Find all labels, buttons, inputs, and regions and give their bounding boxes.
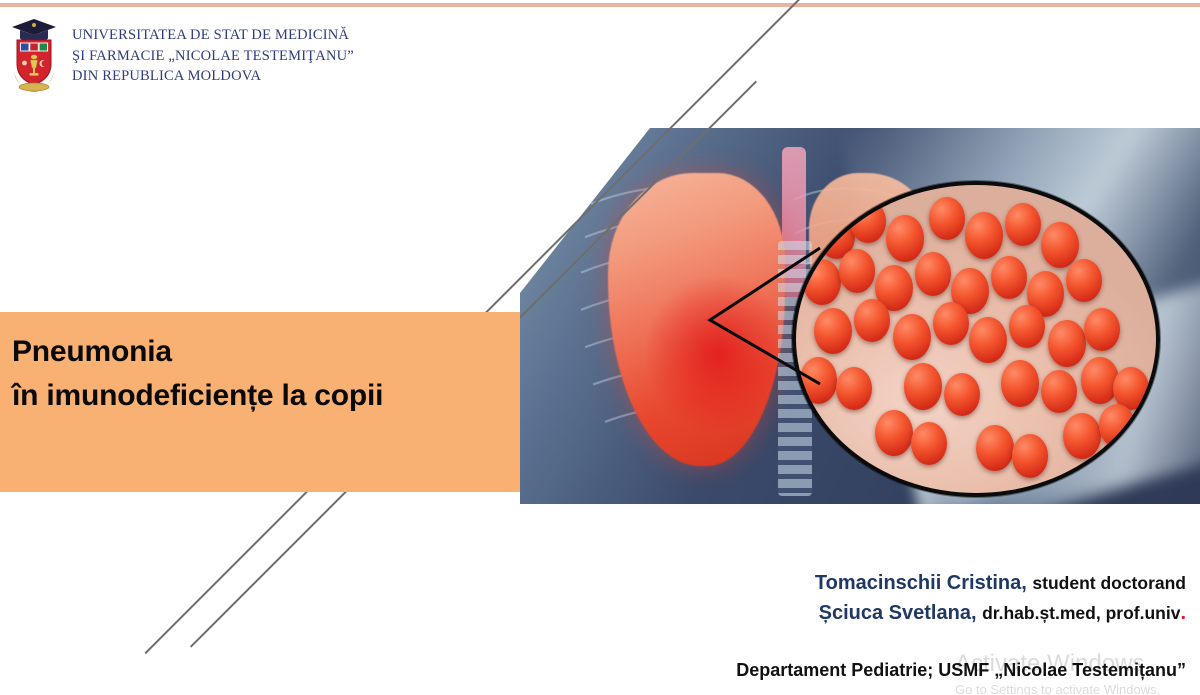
department-line: Departament Pediatrie; USMF „Nicolae Tes… (736, 660, 1186, 681)
university-name: UNIVERSITATEA DE STAT DE MEDICINĂ ŞI FAR… (72, 16, 354, 87)
magnifier-pointer-lines (520, 128, 1200, 504)
author-name: Șciuca Svetlana, (819, 602, 977, 624)
lungs-bacteria-image (520, 128, 1200, 504)
author-name: Tomacinschii Cristina, (815, 572, 1027, 594)
university-name-line-1: UNIVERSITATEA DE STAT DE MEDICINĂ (72, 25, 354, 46)
author-row: Tomacinschii Cristina, student doctorand (815, 568, 1186, 598)
university-name-line-2: ŞI FARMACIE „NICOLAE TESTEMIŢANU” (72, 46, 354, 67)
university-name-line-3: DIN REPUBLICA MOLDOVA (72, 66, 354, 87)
author-role: student doctorand (1032, 573, 1186, 593)
usmf-logo-icon (8, 16, 60, 94)
author-row: Șciuca Svetlana, dr.hab.șt.med, prof.uni… (815, 598, 1186, 628)
author-trailing-dot: . (1180, 602, 1186, 624)
title-line-1: Pneumonia (12, 330, 512, 374)
title-line-2: în imunodeficiențe la copii (12, 374, 512, 418)
author-role: dr.hab.șt.med, prof.univ (982, 603, 1180, 623)
image-backdrop (520, 128, 1200, 504)
authors-block: Tomacinschii Cristina, student doctorand… (815, 568, 1186, 628)
slide-header: UNIVERSITATEA DE STAT DE MEDICINĂ ŞI FAR… (8, 16, 354, 94)
presentation-slide: Pneumonia în imunodeficiențe la copii (0, 0, 1200, 695)
page-title: Pneumonia în imunodeficiențe la copii (12, 330, 512, 417)
